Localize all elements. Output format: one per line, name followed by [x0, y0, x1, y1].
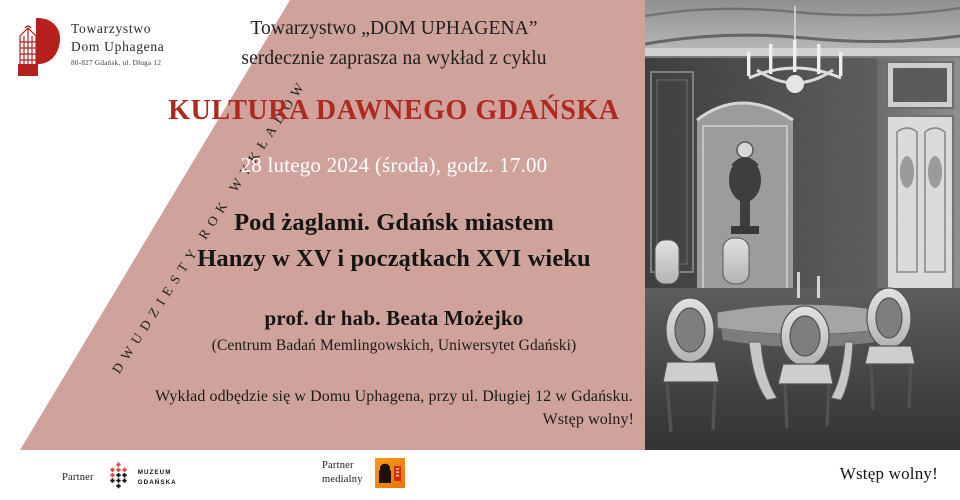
media-partner-label: Partner medialny [322, 459, 363, 488]
muzeum-word: MUZEUM [138, 468, 177, 478]
speaker-affiliation: (Centrum Badań Memlingowskich, Uniwersyt… [150, 337, 638, 355]
invitation-line-2: serdecznie zaprasza na wykład z cyklu [150, 44, 638, 74]
venue-address-line: Wykład odbędzie się w Domu Uphagena, prz… [155, 388, 633, 405]
partner-group: Partner [62, 462, 177, 494]
free-entry-note: Wstęp wolny! [150, 408, 638, 431]
lecture-title-line-1: Pod żaglami. Gdańsk miastem [150, 205, 638, 241]
media-partner-label-line-1: Partner [322, 459, 363, 473]
event-date-time: 28 lutego 2024 (środa), godz. 17.00 [150, 153, 638, 178]
interior-photograph [645, 0, 960, 450]
crosses-diamond-icon [106, 462, 132, 494]
poster-canvas: Towarzystwo Dom Uphagena 80-827 Gdańsk, … [0, 0, 960, 500]
series-title: KULTURA DAWNEGO GDAŃSKA [150, 95, 638, 127]
footer-free-entry: Wstęp wolny! [840, 464, 938, 484]
orange-square-logo-icon [375, 458, 405, 488]
invitation-line-1: Towarzystwo „DOM UPHAGENA” [150, 14, 638, 44]
speaker-name: prof. dr hab. Beata Możejko [150, 306, 638, 331]
muzeum-gdanska-wordmark: MUZEUM GDAŃSKA [138, 468, 177, 487]
dom-uphagena-logo: Towarzystwo Dom Uphagena 80-827 Gdańsk, … [14, 16, 165, 78]
muzeum-gdanska-logo: MUZEUM GDAŃSKA [106, 462, 177, 494]
lecture-title-line-2: Hanzy w XV i początkach XVI wieku [150, 241, 638, 277]
main-content: Towarzystwo „DOM UPHAGENA” serdecznie za… [150, 14, 638, 432]
house-letter-d-logo-icon [14, 16, 62, 78]
venue-info: Wykład odbędzie się w Domu Uphagena, prz… [150, 385, 638, 432]
lecture-title: Pod żaglami. Gdańsk miastem Hanzy w XV i… [150, 205, 638, 277]
media-partner-label-line-2: medialny [322, 473, 363, 487]
media-partner-group: Partner medialny [322, 458, 405, 488]
footer-bar: Partner [0, 450, 960, 500]
gdanska-word: GDAŃSKA [138, 478, 177, 488]
partner-label: Partner [62, 471, 94, 485]
